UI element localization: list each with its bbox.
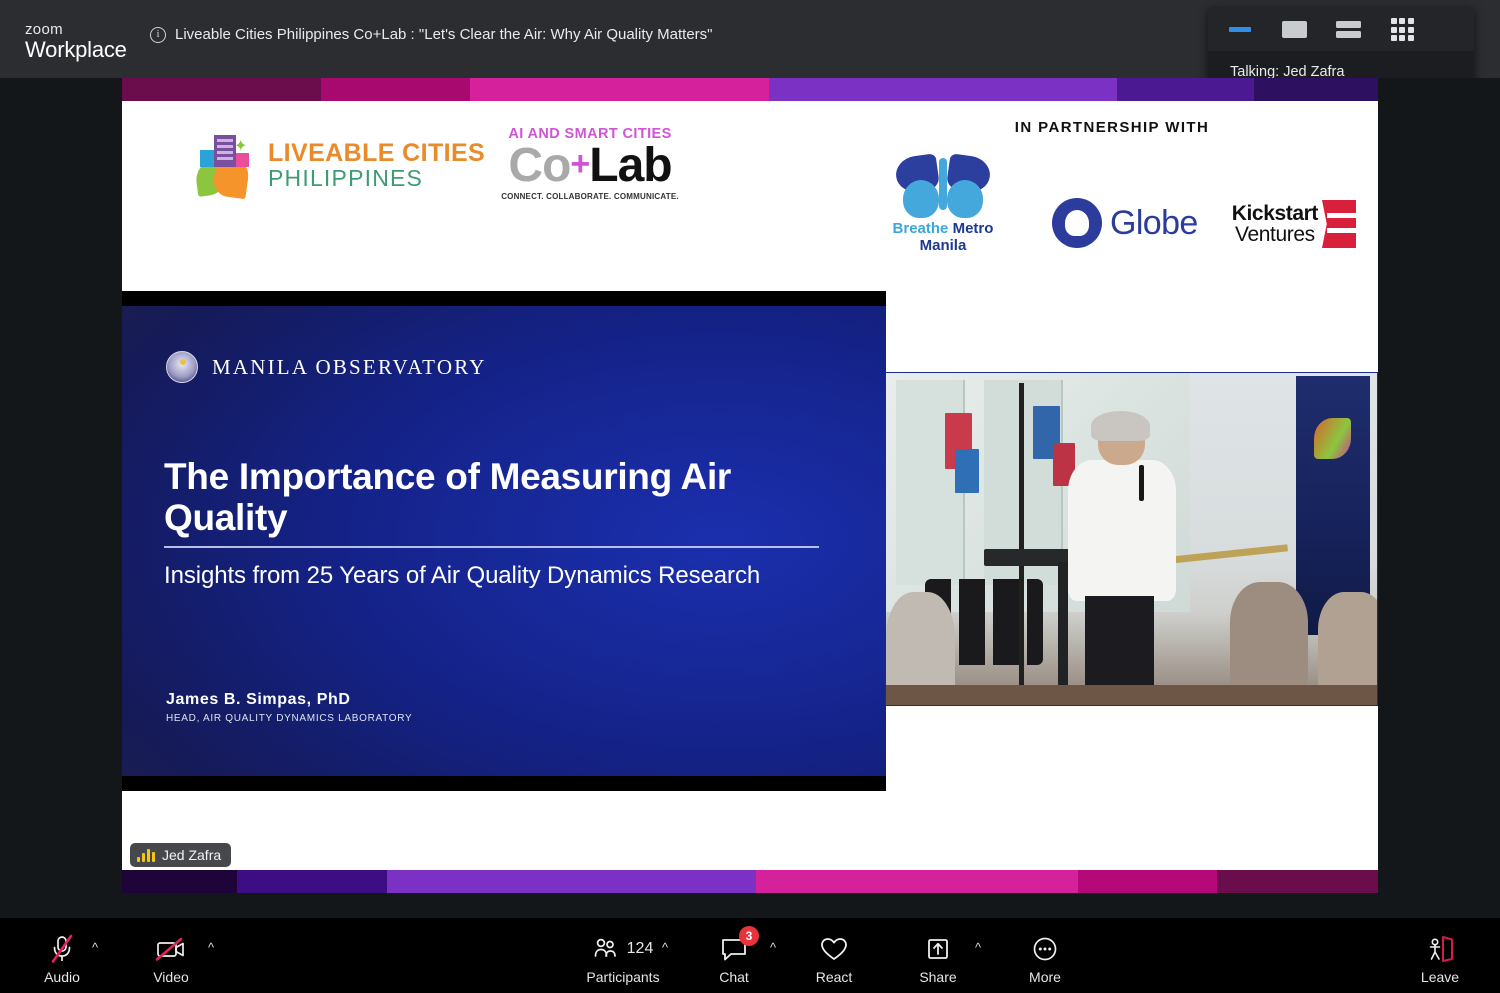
video-banner-logo bbox=[1314, 418, 1351, 459]
meeting-stage: ✦ LIVEABLE CITIES PHILIPPINES AI AND SMA… bbox=[0, 78, 1500, 918]
zoom-meeting-window: zoom Workplace i Liveable Cities Philipp… bbox=[0, 0, 1500, 993]
presentation-slide: MANILA OBSERVATORY The Importance of Mea… bbox=[122, 306, 886, 776]
gallery-grid-icon bbox=[1391, 18, 1414, 41]
video-armchair-2 bbox=[1318, 592, 1378, 692]
video-podium-leg bbox=[1058, 562, 1068, 688]
kickstart-line-1: Kickstart bbox=[1232, 203, 1318, 224]
leave-button[interactable]: Leave bbox=[1404, 932, 1476, 985]
video-poster-blue bbox=[955, 449, 980, 492]
chat-icon: 3 bbox=[719, 932, 749, 966]
manila-observatory-wordmark: MANILA OBSERVATORY bbox=[212, 355, 487, 380]
zoom-workplace-logo: zoom Workplace bbox=[25, 22, 135, 62]
video-speaker-person bbox=[1068, 416, 1176, 688]
share-screen-icon bbox=[923, 932, 953, 966]
chat-options-caret[interactable]: ^ bbox=[770, 940, 776, 955]
colab-logo: AI AND SMART CITIES Co+Lab CONNECT. COLL… bbox=[490, 126, 690, 201]
react-button[interactable]: React bbox=[798, 932, 870, 985]
chat-label: Chat bbox=[719, 969, 749, 985]
presentation-slide-frame: MANILA OBSERVATORY The Importance of Mea… bbox=[122, 291, 886, 791]
breathe-metro-manila-wordmark: Breathe Metro Manila bbox=[868, 220, 1018, 254]
presenter-role: HEAD, AIR QUALITY DYNAMICS LABORATORY bbox=[166, 713, 412, 724]
leave-door-icon bbox=[1424, 932, 1456, 966]
active-speaker-name: Jed Zafra bbox=[162, 847, 221, 863]
kickstart-ventures-logo: Kickstart Ventures bbox=[1232, 200, 1356, 254]
decorative-color-band-top bbox=[122, 78, 1378, 101]
slide-title-rule bbox=[164, 546, 819, 548]
decorative-color-band-bottom bbox=[122, 870, 1378, 893]
liveable-cities-wordmark: LIVEABLE CITIES PHILIPPINES bbox=[268, 140, 485, 191]
slide-presenter-block: James B. Simpas, PhD HEAD, AIR QUALITY D… bbox=[166, 691, 412, 724]
butterfly-lungs-icon bbox=[893, 156, 993, 218]
share-label: Share bbox=[919, 969, 956, 985]
video-armchair-1 bbox=[1230, 582, 1309, 688]
bmm-text-a: Breathe bbox=[893, 220, 953, 237]
speaker-view-icon bbox=[1282, 21, 1307, 38]
colab-plus: + bbox=[570, 145, 589, 183]
liveable-line-1: LIVEABLE CITIES bbox=[268, 140, 485, 166]
presenter-name: James B. Simpas, PhD bbox=[166, 691, 412, 709]
chat-button[interactable]: 3 Chat bbox=[698, 932, 770, 985]
more-button[interactable]: More bbox=[1009, 932, 1081, 985]
view-mode-options bbox=[1208, 8, 1474, 51]
manila-observatory-seal-icon bbox=[166, 351, 198, 383]
kickstart-line-2: Ventures bbox=[1232, 224, 1318, 245]
meeting-title-group[interactable]: i Liveable Cities Philippines Co+Lab : "… bbox=[150, 26, 713, 43]
video-floor bbox=[886, 685, 1377, 705]
camera-muted-icon bbox=[154, 932, 188, 966]
kickstart-wordmark: Kickstart Ventures bbox=[1232, 203, 1318, 246]
slide-title-block: The Importance of Measuring Air Quality … bbox=[164, 456, 844, 590]
leave-label: Leave bbox=[1421, 969, 1459, 985]
colab-wordmark: Co+Lab bbox=[490, 142, 690, 190]
chat-unread-badge: 3 bbox=[739, 926, 759, 946]
liveable-cities-logo: ✦ LIVEABLE CITIES PHILIPPINES bbox=[194, 133, 485, 197]
audio-button[interactable]: Audio bbox=[26, 932, 98, 985]
share-options-caret[interactable]: ^ bbox=[975, 940, 981, 955]
participants-count: 124 bbox=[627, 940, 654, 958]
minimize-icon bbox=[1229, 27, 1251, 32]
colab-tagline-bottom: CONNECT. COLLABORATE. COMMUNICATE. bbox=[490, 192, 690, 201]
active-speaker-video-tile[interactable] bbox=[885, 372, 1378, 706]
partner-logo-row: Breathe Metro Manila Globe Kickstart Ven… bbox=[862, 156, 1362, 254]
slide-title: The Importance of Measuring Air Quality bbox=[164, 456, 844, 539]
audio-level-icon bbox=[137, 848, 155, 862]
gallery-view-button[interactable] bbox=[1380, 15, 1424, 45]
manila-observatory-logo: MANILA OBSERVATORY bbox=[166, 351, 487, 383]
side-by-side-icon bbox=[1336, 21, 1361, 38]
liveable-line-2: PHILIPPINES bbox=[268, 166, 485, 191]
participants-options-caret[interactable]: ^ bbox=[662, 940, 668, 955]
partnership-section: IN PARTNERSHIP WITH Breathe Metro Manila bbox=[862, 119, 1362, 254]
partnership-title: IN PARTNERSHIP WITH bbox=[862, 119, 1362, 136]
more-label: More bbox=[1029, 969, 1061, 985]
slide-deck-header: ✦ LIVEABLE CITIES PHILIPPINES AI AND SMA… bbox=[122, 101, 1378, 291]
microphone-muted-icon bbox=[47, 932, 77, 966]
speaker-view-button[interactable] bbox=[1272, 15, 1316, 45]
meeting-title: Liveable Cities Philippines Co+Lab : "Le… bbox=[175, 26, 713, 43]
active-speaker-name-badge: Jed Zafra bbox=[130, 843, 231, 867]
brand-line-1: zoom bbox=[25, 22, 135, 38]
title-bar: zoom Workplace i Liveable Cities Philipp… bbox=[0, 0, 1500, 78]
side-by-side-view-button[interactable] bbox=[1326, 15, 1370, 45]
globe-logo: Globe bbox=[1052, 198, 1198, 254]
share-button[interactable]: Share bbox=[902, 932, 974, 985]
kickstart-flag-icon bbox=[1322, 200, 1356, 248]
video-label: Video bbox=[153, 969, 189, 985]
react-label: React bbox=[816, 969, 853, 985]
video-options-caret[interactable]: ^ bbox=[208, 940, 214, 955]
colab-lab: Lab bbox=[589, 139, 671, 192]
audio-label: Audio bbox=[44, 969, 80, 985]
video-mic-stand bbox=[1019, 383, 1025, 688]
meeting-toolbar: Audio ^ Video ^ 124 Participants ^ bbox=[0, 918, 1500, 993]
colab-co: Co bbox=[508, 139, 570, 192]
video-button[interactable]: Video bbox=[135, 932, 207, 985]
heart-react-icon bbox=[819, 932, 849, 966]
shared-screen-content[interactable]: ✦ LIVEABLE CITIES PHILIPPINES AI AND SMA… bbox=[122, 78, 1378, 893]
globe-wordmark: Globe bbox=[1110, 204, 1198, 243]
info-icon[interactable]: i bbox=[150, 27, 166, 43]
globe-mark-icon bbox=[1052, 198, 1102, 248]
breathe-metro-manila-logo: Breathe Metro Manila bbox=[868, 156, 1018, 254]
slide-subtitle: Insights from 25 Years of Air Quality Dy… bbox=[164, 562, 844, 590]
minimize-view-button[interactable] bbox=[1218, 15, 1262, 45]
audio-options-caret[interactable]: ^ bbox=[92, 940, 98, 955]
liveable-cities-mark-icon: ✦ bbox=[194, 133, 258, 197]
participants-icon-group: 124 bbox=[593, 932, 654, 966]
brand-line-2: Workplace bbox=[25, 38, 135, 62]
more-ellipsis-icon bbox=[1030, 932, 1060, 966]
participants-label: Participants bbox=[586, 969, 659, 985]
